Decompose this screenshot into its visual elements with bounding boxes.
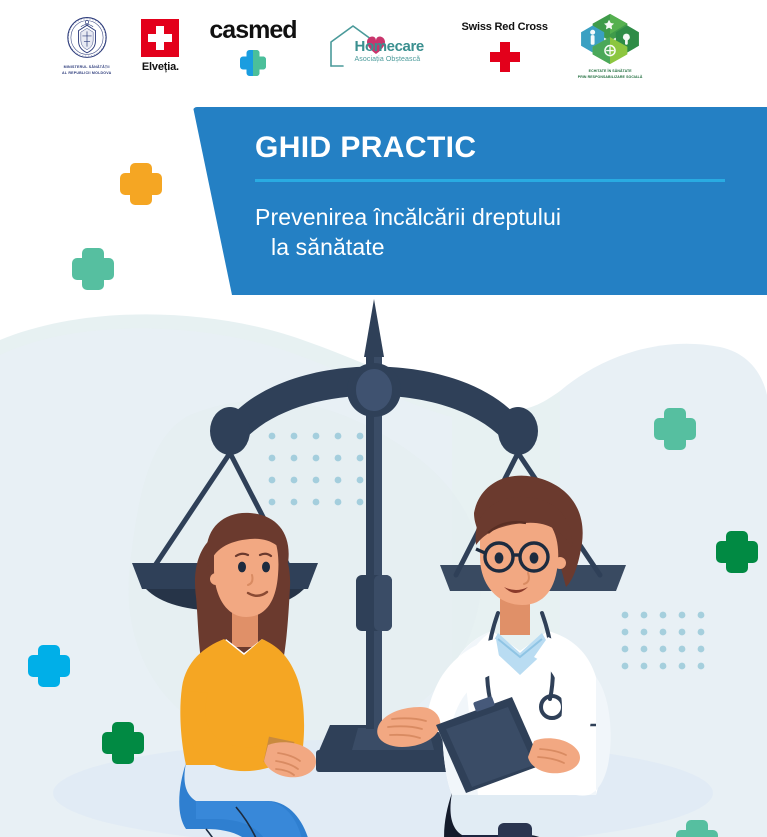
cross-green-lower-left: [102, 722, 144, 769]
casmed-logo: casmed: [209, 16, 296, 76]
cross-cyan-lower-left: [28, 645, 70, 692]
swiss-red-cross-logo: Swiss Red Cross: [462, 21, 548, 72]
title-banner-content: GHID PRACTIC Prevenirea încălcării drept…: [255, 133, 725, 263]
cover-page: MINISTERUL SĂNĂTĂȚII AL REPUBLICII MOLDO…: [0, 0, 767, 837]
scale-pointer: [364, 299, 384, 357]
title-banner: GHID PRACTIC Prevenirea încălcării drept…: [193, 107, 767, 295]
beam-pivot-right: [498, 407, 538, 455]
casmed-cross-icon: [240, 50, 266, 76]
partner-logo-strip: MINISTERUL SĂNĂTĂȚII AL REPUBLICII MOLDO…: [0, 0, 767, 92]
beam-pivot-left: [210, 407, 250, 455]
page-title: GHID PRACTIC: [255, 133, 725, 163]
cross-teal-bottom: [676, 820, 718, 837]
ministry-crest-caption: MINISTERUL SĂNĂTĂȚII AL REPUBLICII MOLDO…: [62, 65, 111, 75]
cross-green-right: [716, 531, 758, 578]
page-subtitle: Prevenirea încălcării dreptului la sănăt…: [255, 202, 725, 263]
hexagon-equity-caption: ECHITATE ÎN SĂNĂTATE PRIN RESPONSABILIZA…: [578, 69, 643, 80]
swiss-flag-logo: Elveția.: [141, 19, 179, 73]
homecare-wordmark: Homecare: [355, 39, 424, 54]
swiss-flag-caption: Elveția.: [142, 61, 179, 73]
page-subtitle-line2: la sănătate: [255, 232, 725, 262]
hexagon-equity-icon: [579, 12, 641, 66]
cross-teal-left: [72, 248, 114, 295]
ministry-crest-logo: MINISTERUL SĂNĂTĂȚII AL REPUBLICII MOLDO…: [62, 16, 111, 75]
hexagon-equity-logo: ECHITATE ÎN SĂNĂTATE PRIN RESPONSABILIZA…: [578, 12, 643, 80]
title-divider: [255, 179, 725, 182]
page-subtitle-line1: Prevenirea încălcării dreptului: [255, 204, 561, 230]
swiss-red-cross-wordmark: Swiss Red Cross: [462, 21, 548, 33]
homecare-subcaption: Asociația Obștească: [355, 56, 424, 63]
cross-orange-upper-left: [120, 163, 162, 210]
swiss-flag-icon: [141, 19, 179, 57]
homecare-logo: Homecare Asociația Obștească: [327, 23, 432, 69]
cross-teal-right: [654, 408, 696, 455]
ministry-crest-icon: [64, 16, 110, 62]
red-cross-icon: [490, 42, 520, 72]
homecare-text-block: Homecare Asociația Obștească: [355, 39, 424, 63]
casmed-wordmark: casmed: [209, 16, 296, 45]
